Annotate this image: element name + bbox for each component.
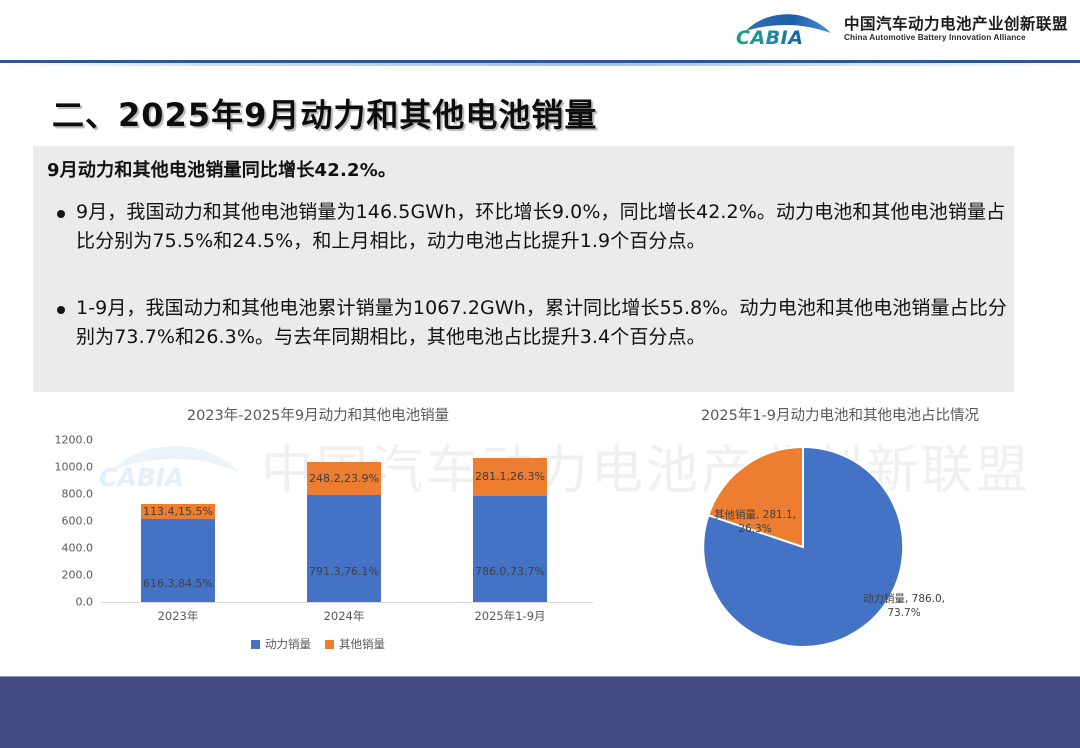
slide-root: CABIA 中国汽车动力电池产业创新联盟 China Automotive Ba… xyxy=(0,0,1080,748)
bar-group-2025[interactable]: 281.1,26.3% 786.0,73.7% xyxy=(473,458,547,602)
pie-label-power-line2: 73.7% xyxy=(863,606,945,620)
pie-chart-title: 2025年1-9月动力电池和其他电池占比情况 xyxy=(610,404,1070,425)
slide-footer-band xyxy=(0,676,1080,748)
charts-area: 2023年-2025年9月动力和其他电池销量 CABIA 中国汽车动力电池产业创… xyxy=(0,396,1080,674)
legend-item-other[interactable]: 其他销量 xyxy=(325,636,385,652)
slide-header: CABIA 中国汽车动力电池产业创新联盟 China Automotive Ba… xyxy=(0,0,1080,62)
brand-text: 中国汽车动力电池产业创新联盟 China Automotive Battery … xyxy=(844,16,1068,43)
bar-label-power: 616.3,84.5% xyxy=(143,531,213,590)
y-axis-tick: 200.0 xyxy=(62,568,94,581)
pie-label-other-line1: 其他销量, 281.1, xyxy=(714,508,796,522)
y-axis-tick: 1000.0 xyxy=(55,461,94,474)
legend-label-power: 动力销量 xyxy=(265,636,311,652)
y-axis-tick: 400.0 xyxy=(62,542,94,555)
x-axis-tick: 2023年 xyxy=(158,608,199,624)
bar-label-other: 113.4,15.5% xyxy=(143,505,213,518)
legend-swatch-power-icon xyxy=(251,640,260,649)
bar-segment-other[interactable]: 281.1,26.3% xyxy=(473,458,547,496)
pie-label-power: 动力销量, 786.0, 73.7% xyxy=(863,592,945,620)
footer-top-edge xyxy=(0,676,1080,677)
bar-segment-other[interactable]: 248.2,23.9% xyxy=(307,462,381,496)
bar-label-power: 791.3,76.1% xyxy=(309,519,379,578)
bar-segment-power[interactable]: 791.3,76.1% xyxy=(307,495,381,602)
page-title: 二、2025年9月动力和其他电池销量 xyxy=(52,90,597,136)
lead-statement: 9月动力和其他电池销量同比增长42.2%。 xyxy=(47,156,396,182)
bar-label-other: 281.1,26.3% xyxy=(475,470,545,483)
y-axis-tick: 600.0 xyxy=(62,515,94,528)
x-axis-line xyxy=(101,602,593,603)
pie-label-other: 其他销量, 281.1, 26.3% xyxy=(714,508,796,536)
y-axis-ticks: 1200.0 1000.0 800.0 600.0 400.0 200.0 0.… xyxy=(33,440,93,602)
pie-plot-area xyxy=(698,442,908,652)
org-name-en: China Automotive Battery Innovation Alli… xyxy=(844,34,1068,43)
bar-segment-power[interactable]: 786.0,73.7% xyxy=(473,496,547,602)
cabia-car-logo-icon: CABIA xyxy=(730,9,834,49)
y-axis-tick: 800.0 xyxy=(62,487,94,500)
legend-swatch-other-icon xyxy=(325,640,334,649)
bar-group-2024[interactable]: 248.2,23.9% 791.3,76.1% xyxy=(307,462,381,602)
bullet-text: 9月，我国动力和其他电池销量为146.5GWh，环比增长9.0%，同比增长42.… xyxy=(76,198,1009,257)
bar-group-2023[interactable]: 113.4,15.5% 616.3,84.5% xyxy=(141,504,215,603)
bullet-item: 1-9月，我国动力和其他电池累计销量为1067.2GWh，累计同比增长55.8%… xyxy=(57,294,1009,353)
svg-text:CABIA: CABIA xyxy=(736,27,803,49)
y-axis-tick: 1200.0 xyxy=(55,434,94,447)
x-axis-tick: 2025年1-9月 xyxy=(474,608,545,624)
bar-label-other: 248.2,23.9% xyxy=(309,472,379,485)
bar-plot-area: 113.4,15.5% 616.3,84.5% 248.2,23.9% 791.… xyxy=(101,440,591,602)
bar-chart-title: 2023年-2025年9月动力和其他电池销量 xyxy=(33,404,603,425)
content-panel: 9月动力和其他电池销量同比增长42.2%。 9月，我国动力和其他电池销量为146… xyxy=(33,146,1014,392)
bullet-text: 1-9月，我国动力和其他电池累计销量为1067.2GWh，累计同比增长55.8%… xyxy=(76,294,1009,353)
bar-segment-other[interactable]: 113.4,15.5% xyxy=(141,504,215,519)
org-name-cn: 中国汽车动力电池产业创新联盟 xyxy=(844,16,1068,32)
y-axis-tick: 0.0 xyxy=(76,596,94,609)
legend-item-power[interactable]: 动力销量 xyxy=(251,636,311,652)
bullet-dot-icon xyxy=(57,306,65,314)
bar-chart-legend: 动力销量 其他销量 xyxy=(33,636,603,652)
pie-chart: 2025年1-9月动力电池和其他电池占比情况 其他销量, 281.1, 26.3… xyxy=(610,400,1070,672)
pie-label-other-line2: 26.3% xyxy=(714,522,796,536)
header-gradient-line xyxy=(0,63,1080,66)
bullet-dot-icon xyxy=(57,210,65,218)
bar-label-power: 786.0,73.7% xyxy=(475,519,545,578)
pie-label-power-line1: 动力销量, 786.0, xyxy=(863,592,945,606)
stacked-bar-chart: 2023年-2025年9月动力和其他电池销量 CABIA 中国汽车动力电池产业创… xyxy=(33,400,603,672)
x-axis-tick: 2024年 xyxy=(324,608,365,624)
brand-logo: CABIA 中国汽车动力电池产业创新联盟 China Automotive Ba… xyxy=(730,9,1068,49)
bullet-item: 9月，我国动力和其他电池销量为146.5GWh，环比增长9.0%，同比增长42.… xyxy=(57,198,1009,257)
legend-label-other: 其他销量 xyxy=(339,636,385,652)
bar-segment-power[interactable]: 616.3,84.5% xyxy=(141,519,215,602)
